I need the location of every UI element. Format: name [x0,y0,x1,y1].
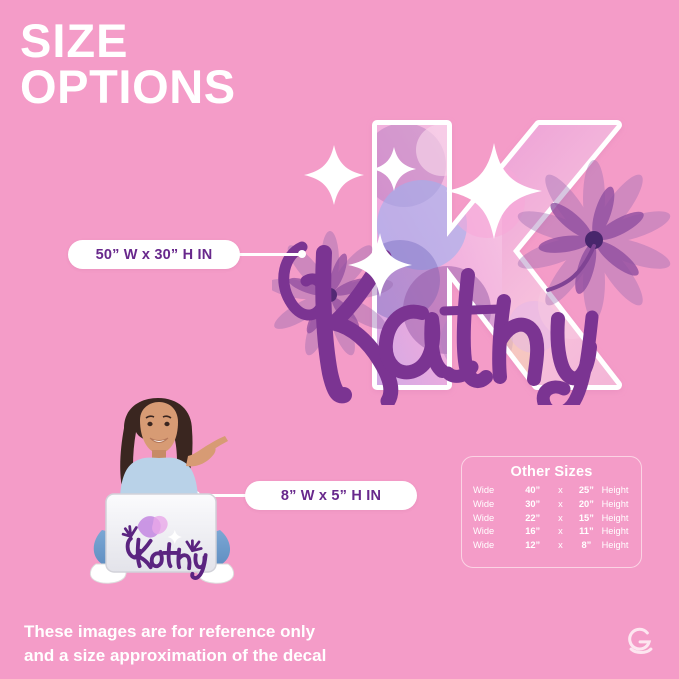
row-wide-label: Wide [462,498,516,512]
row-width-value: 40” [516,484,550,498]
person-with-laptop-photo [62,398,262,588]
row-x-separator: x [550,512,571,526]
row-x-separator: x [550,525,571,539]
row-height-value: 25” [571,484,601,498]
row-height-value: 15” [571,512,601,526]
row-height-value: 11” [571,525,601,539]
row-x-separator: x [550,484,571,498]
row-height-value: 8” [571,539,601,553]
row-height-label: Height [602,484,641,498]
title-line-1: SIZE [20,18,350,64]
table-row: Wide 22” x 15” Height [462,512,641,526]
laptop [106,494,216,578]
row-height-value: 20” [571,498,601,512]
row-width-value: 16” [516,525,550,539]
row-height-label: Height [602,512,641,526]
other-sizes-title: Other Sizes [462,464,641,480]
row-height-label: Height [602,498,641,512]
row-width-value: 30” [516,498,550,512]
callout-connector-large [238,253,304,256]
row-height-label: Height [602,539,641,553]
row-wide-label: Wide [462,525,516,539]
callout-connector-dot-large [298,250,306,258]
row-width-value: 22” [516,512,550,526]
g-monogram-logo-icon [623,623,659,659]
disclaimer-line-2: and a size approximation of the decal [24,644,444,668]
table-row: Wide 12” x 8” Height [462,539,641,553]
row-width-value: 12” [516,539,550,553]
page-title: SIZE OPTIONS [20,18,350,110]
title-line-2: OPTIONS [20,64,350,110]
disclaimer-line-1: These images are for reference only [24,620,444,644]
size-options-graphic: SIZE OPTIONS [0,0,679,679]
face [140,402,178,454]
row-wide-label: Wide [462,512,516,526]
row-height-label: Height [602,525,641,539]
disclaimer-note: These images are for reference only and … [24,620,444,668]
decal-artwork-large [272,105,672,405]
size-callout-small[interactable]: 8” W x 5” H IN [245,481,417,510]
row-wide-label: Wide [462,539,516,553]
table-row: Wide 16” x 11” Height [462,525,641,539]
table-row: Wide 30” x 20” Height [462,498,641,512]
table-row: Wide 40” x 25” Height [462,484,641,498]
size-callout-large[interactable]: 50” W x 30” H IN [68,240,240,269]
row-wide-label: Wide [462,484,516,498]
pointing-finger [205,436,228,453]
other-sizes-table: Wide 40” x 25” Height Wide 30” x 20” Hei… [462,484,641,553]
row-x-separator: x [550,498,571,512]
other-sizes-panel: Other Sizes Wide 40” x 25” Height Wide 3… [461,456,642,568]
row-x-separator: x [550,539,571,553]
